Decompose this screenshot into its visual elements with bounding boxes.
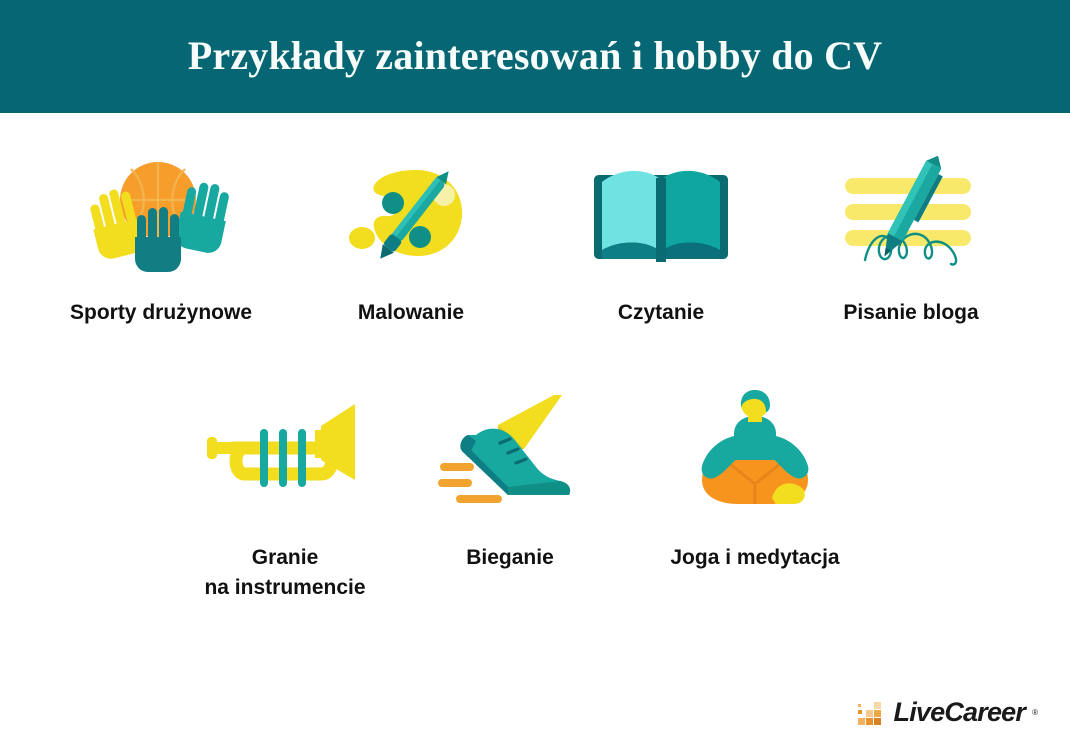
hobby-label: Joga i medytacja xyxy=(670,543,839,573)
livecareer-logo[interactable]: LiveCareer ® xyxy=(858,699,1039,726)
hobby-item-reading: Czytanie xyxy=(536,150,786,328)
header-banner: Przykłady zainteresowań i hobby do CV xyxy=(0,0,1070,113)
hobby-label: Pisanie bloga xyxy=(843,298,978,328)
meditation-icon xyxy=(670,385,840,515)
hobby-item-blogging: Pisanie bloga xyxy=(786,150,1036,328)
registered-mark: ® xyxy=(1032,709,1038,717)
hobby-item-running: Bieganie xyxy=(410,385,610,573)
hobby-item-yoga: Joga i medytacja xyxy=(630,385,880,573)
hobby-label: Bieganie xyxy=(466,543,554,573)
running-shoe-icon xyxy=(425,385,595,515)
page-title: Przykłady zainteresowań i hobby do CV xyxy=(188,36,883,78)
pen-writing-icon xyxy=(826,150,996,280)
hobby-item-team-sports: Sporty drużynowe xyxy=(36,150,286,328)
hobby-label: Granie na instrumencie xyxy=(204,543,365,604)
hobby-item-instrument: Granie na instrumencie xyxy=(160,385,410,604)
hobby-row-2: Granie na instrumencie xyxy=(0,385,1070,604)
hobby-item-painting: Malowanie xyxy=(286,150,536,328)
open-book-icon xyxy=(576,150,746,280)
paint-palette-icon xyxy=(326,150,496,280)
livecareer-wordmark: LiveCareer xyxy=(894,699,1026,726)
basketball-hands-icon xyxy=(76,150,246,280)
hobby-row-1: Sporty drużynowe xyxy=(0,150,1070,328)
livecareer-blocks-icon xyxy=(858,700,888,726)
trumpet-icon xyxy=(200,385,370,515)
hobby-label: Sporty drużynowe xyxy=(70,298,252,328)
page-root: Przykłady zainteresowań i hobby do CV xyxy=(0,0,1070,740)
hobby-label: Czytanie xyxy=(618,298,704,328)
hobby-label: Malowanie xyxy=(358,298,464,328)
